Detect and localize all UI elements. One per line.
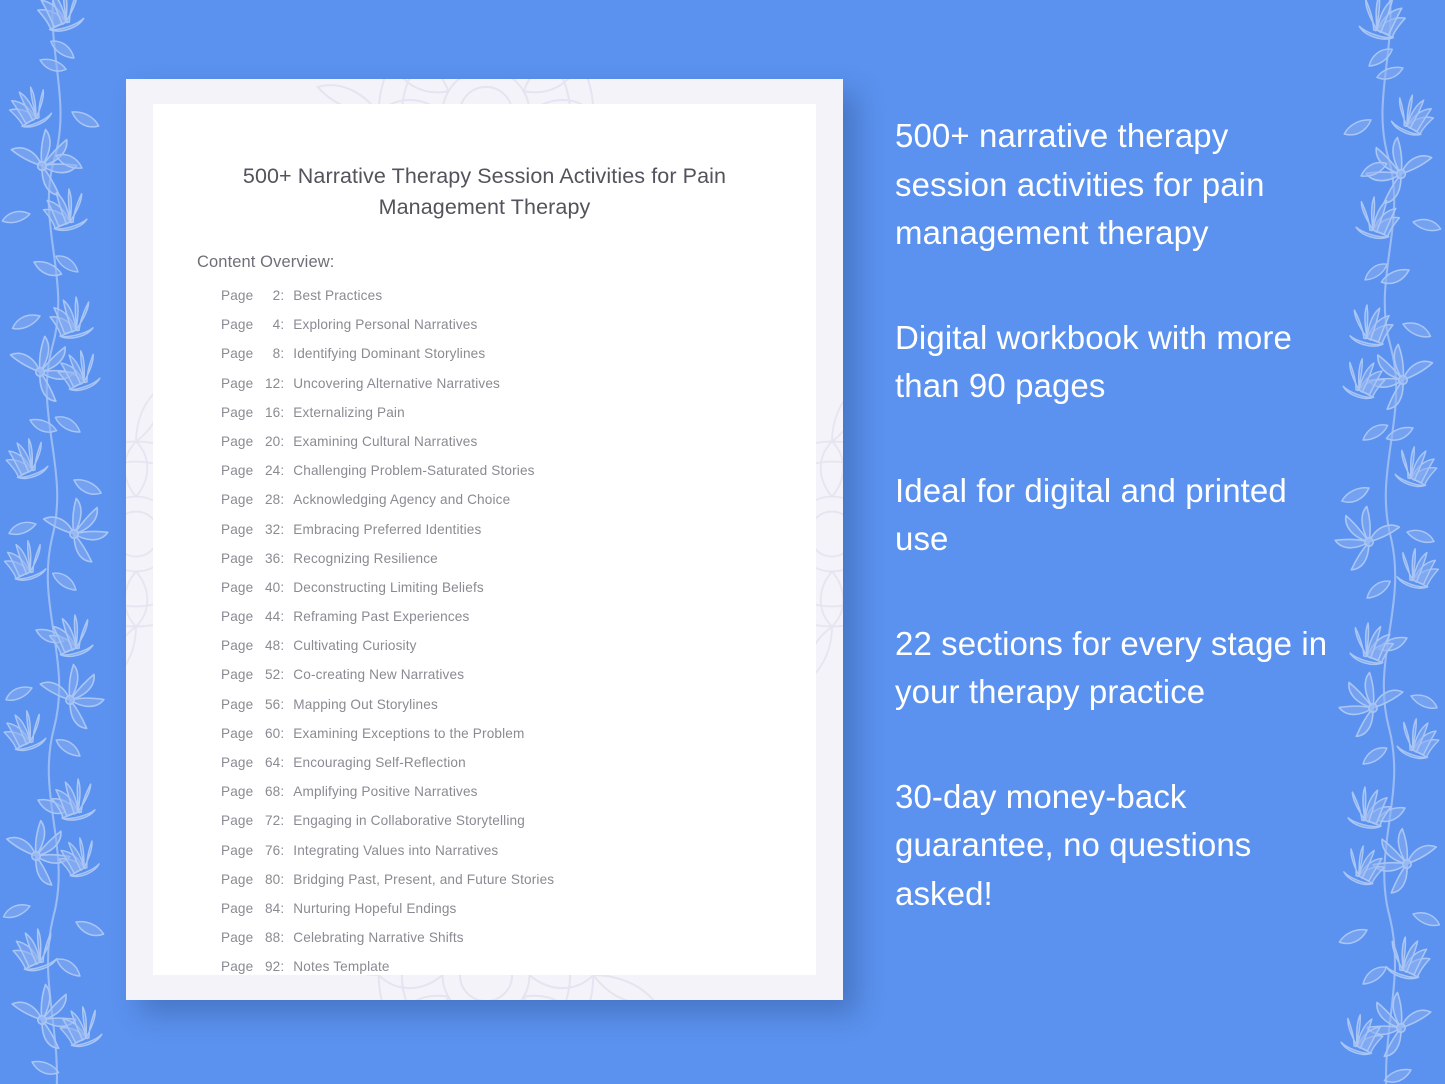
toc-page-word: Page <box>221 434 253 449</box>
toc-page-number: 28 <box>258 492 280 507</box>
toc-colon: : <box>280 784 284 799</box>
toc-page-number: 92 <box>258 959 280 974</box>
toc-entry-title: Bridging Past, Present, and Future Stori… <box>293 872 554 887</box>
toc-row: Page64:Encouraging Self-Reflection <box>153 755 816 784</box>
toc-page-word: Page <box>221 522 253 537</box>
marketing-bullet: Digital workbook with more than 90 pages <box>895 314 1335 411</box>
toc-page-word: Page <box>221 551 253 566</box>
toc-entry-title: Best Practices <box>293 288 382 303</box>
toc-colon: : <box>280 346 284 361</box>
toc-page-word: Page <box>221 901 253 916</box>
floral-vine-border-left-icon <box>0 0 114 1084</box>
toc-colon: : <box>280 492 284 507</box>
toc-colon: : <box>280 405 284 420</box>
toc-row: Page52:Co-creating New Narratives <box>153 667 816 696</box>
toc-row: Page36:Recognizing Resilience <box>153 551 816 580</box>
toc-page-number: 48 <box>258 638 280 653</box>
product-preview-card: 500+ Narrative Therapy Session Activitie… <box>126 79 843 1000</box>
toc-row: Page40:Deconstructing Limiting Beliefs <box>153 580 816 609</box>
toc-colon: : <box>280 317 284 332</box>
toc-row: Page84:Nurturing Hopeful Endings <box>153 901 816 930</box>
toc-page-word: Page <box>221 784 253 799</box>
document-page: 500+ Narrative Therapy Session Activitie… <box>153 104 816 975</box>
toc-entry-title: Examining Exceptions to the Problem <box>293 726 524 741</box>
marketing-bullets: 500+ narrative therapy session activitie… <box>895 112 1335 918</box>
toc-entry-title: Mapping Out Storylines <box>293 697 438 712</box>
toc-row: Page88:Celebrating Narrative Shifts <box>153 930 816 959</box>
toc-page-number: 56 <box>258 697 280 712</box>
toc-row: Page24:Challenging Problem-Saturated Sto… <box>153 463 816 492</box>
toc-row: Page68:Amplifying Positive Narratives <box>153 784 816 813</box>
toc-page-word: Page <box>221 667 253 682</box>
toc-page-number: 84 <box>258 901 280 916</box>
toc-entry-title: Embracing Preferred Identities <box>293 522 481 537</box>
toc-row: Page28:Acknowledging Agency and Choice <box>153 492 816 521</box>
toc-entry-title: Acknowledging Agency and Choice <box>293 492 510 507</box>
toc-colon: : <box>280 813 284 828</box>
toc-colon: : <box>280 872 284 887</box>
toc-entry-title: Identifying Dominant Storylines <box>293 346 485 361</box>
toc-page-word: Page <box>221 492 253 507</box>
toc-page-number: 8 <box>258 346 280 361</box>
toc-row: Page44:Reframing Past Experiences <box>153 609 816 638</box>
content-overview-label: Content Overview: <box>153 223 816 272</box>
toc-colon: : <box>280 638 284 653</box>
toc-page-word: Page <box>221 463 253 478</box>
toc-row: Page72:Engaging in Collaborative Storyte… <box>153 813 816 842</box>
toc-row: Page92:Notes Template <box>153 959 816 975</box>
toc-colon: : <box>280 667 284 682</box>
toc-entry-title: Amplifying Positive Narratives <box>293 784 477 799</box>
toc-colon: : <box>280 376 284 391</box>
marketing-bullet: 30-day money-back guarantee, no question… <box>895 773 1335 919</box>
toc-page-word: Page <box>221 288 253 303</box>
toc-page-number: 36 <box>258 551 280 566</box>
toc-entry-title: Encouraging Self-Reflection <box>293 755 466 770</box>
toc-colon: : <box>280 463 284 478</box>
toc-row: Page2:Best Practices <box>153 288 816 317</box>
toc-colon: : <box>280 434 284 449</box>
toc-entry-title: Externalizing Pain <box>293 405 405 420</box>
toc-row: Page8:Identifying Dominant Storylines <box>153 346 816 375</box>
marketing-bullet: Ideal for digital and printed use <box>895 467 1335 564</box>
toc-entry-title: Notes Template <box>293 959 389 974</box>
toc-colon: : <box>280 288 284 303</box>
toc-colon: : <box>280 843 284 858</box>
toc-page-word: Page <box>221 405 253 420</box>
toc-entry-title: Uncovering Alternative Narratives <box>293 376 500 391</box>
toc-entry-title: Co-creating New Narratives <box>293 667 464 682</box>
page-background: 500+ Narrative Therapy Session Activitie… <box>0 0 1445 1084</box>
toc-colon: : <box>280 726 284 741</box>
toc-row: Page80:Bridging Past, Present, and Futur… <box>153 872 816 901</box>
toc-page-number: 64 <box>258 755 280 770</box>
toc-entry-title: Integrating Values into Narratives <box>293 843 498 858</box>
toc-colon: : <box>280 755 284 770</box>
toc-row: Page20:Examining Cultural Narratives <box>153 434 816 463</box>
toc-entry-title: Celebrating Narrative Shifts <box>293 930 463 945</box>
toc-page-number: 76 <box>258 843 280 858</box>
toc-page-number: 20 <box>258 434 280 449</box>
toc-entry-title: Engaging in Collaborative Storytelling <box>293 813 525 828</box>
toc-entry-title: Challenging Problem-Saturated Stories <box>293 463 534 478</box>
toc-colon: : <box>280 609 284 624</box>
toc-entry-title: Exploring Personal Narratives <box>293 317 477 332</box>
toc-page-word: Page <box>221 813 253 828</box>
toc-page-word: Page <box>221 755 253 770</box>
toc-page-number: 24 <box>258 463 280 478</box>
toc-page-word: Page <box>221 930 253 945</box>
toc-row: Page32:Embracing Preferred Identities <box>153 522 816 551</box>
toc-entry-title: Cultivating Curiosity <box>293 638 416 653</box>
toc-page-number: 4 <box>258 317 280 332</box>
toc-page-number: 80 <box>258 872 280 887</box>
toc-page-word: Page <box>221 959 253 974</box>
toc-page-number: 68 <box>258 784 280 799</box>
toc-page-number: 44 <box>258 609 280 624</box>
toc-page-word: Page <box>221 317 253 332</box>
toc-page-number: 16 <box>258 405 280 420</box>
toc-row: Page16:Externalizing Pain <box>153 405 816 434</box>
toc-row: Page4:Exploring Personal Narratives <box>153 317 816 346</box>
toc-colon: : <box>280 522 284 537</box>
toc-entry-title: Deconstructing Limiting Beliefs <box>293 580 484 595</box>
toc-row: Page48:Cultivating Curiosity <box>153 638 816 667</box>
toc-entry-title: Examining Cultural Narratives <box>293 434 477 449</box>
toc-page-word: Page <box>221 872 253 887</box>
toc-entry-title: Recognizing Resilience <box>293 551 438 566</box>
toc-colon: : <box>280 551 284 566</box>
toc-entry-title: Nurturing Hopeful Endings <box>293 901 456 916</box>
toc-page-word: Page <box>221 346 253 361</box>
toc-page-number: 88 <box>258 930 280 945</box>
toc-colon: : <box>280 959 284 974</box>
toc-colon: : <box>280 901 284 916</box>
toc-page-number: 72 <box>258 813 280 828</box>
toc-colon: : <box>280 930 284 945</box>
toc-page-word: Page <box>221 376 253 391</box>
table-of-contents: Page2:Best PracticesPage4:Exploring Pers… <box>153 272 816 975</box>
toc-page-number: 12 <box>258 376 280 391</box>
toc-page-word: Page <box>221 580 253 595</box>
toc-page-word: Page <box>221 609 253 624</box>
toc-page-word: Page <box>221 726 253 741</box>
toc-page-number: 2 <box>258 288 280 303</box>
toc-page-word: Page <box>221 843 253 858</box>
marketing-bullet: 22 sections for every stage in your ther… <box>895 620 1335 717</box>
toc-page-word: Page <box>221 638 253 653</box>
toc-page-number: 40 <box>258 580 280 595</box>
toc-page-number: 32 <box>258 522 280 537</box>
toc-row: Page60:Examining Exceptions to the Probl… <box>153 726 816 755</box>
page-title: 500+ Narrative Therapy Session Activitie… <box>153 104 816 223</box>
marketing-bullet: 500+ narrative therapy session activitie… <box>895 112 1335 258</box>
toc-colon: : <box>280 697 284 712</box>
toc-page-number: 60 <box>258 726 280 741</box>
toc-row: Page76:Integrating Values into Narrative… <box>153 843 816 872</box>
toc-entry-title: Reframing Past Experiences <box>293 609 469 624</box>
toc-page-number: 52 <box>258 667 280 682</box>
toc-row: Page12:Uncovering Alternative Narratives <box>153 376 816 405</box>
toc-colon: : <box>280 580 284 595</box>
toc-page-word: Page <box>221 697 253 712</box>
toc-row: Page56:Mapping Out Storylines <box>153 697 816 726</box>
floral-vine-border-right-icon <box>1329 0 1445 1084</box>
